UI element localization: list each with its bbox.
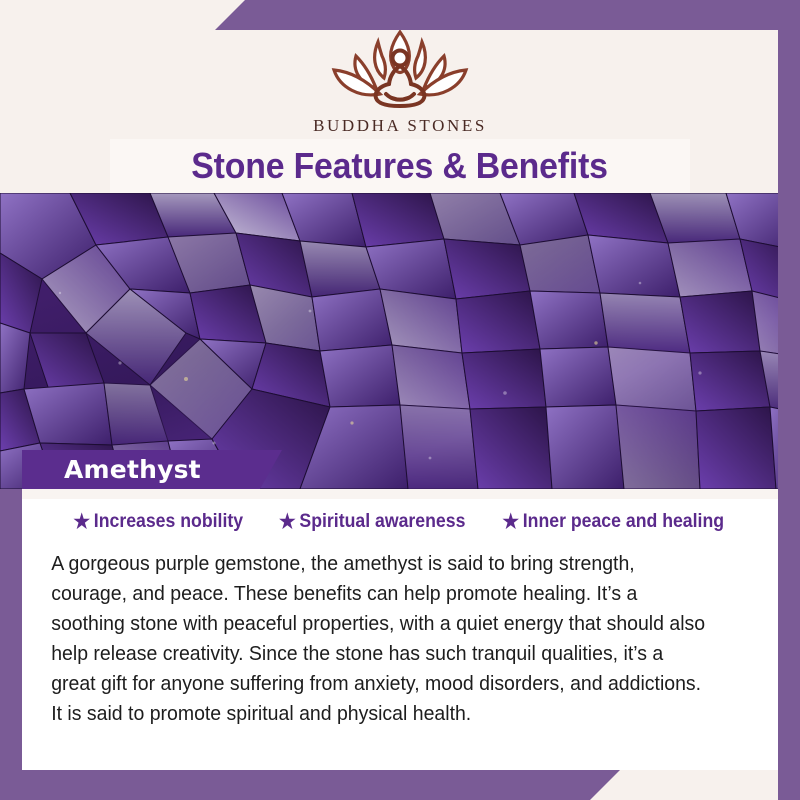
frame-left-bar <box>0 489 22 800</box>
frame-top-bar <box>215 0 800 30</box>
benefit-label-2: Spiritual awareness <box>299 511 465 533</box>
panel-top-divider <box>22 489 778 499</box>
star-icon: ★ <box>74 512 91 532</box>
content-panel: ★ Increases nobility ★ Spiritual awarene… <box>22 489 778 770</box>
star-icon: ★ <box>503 512 520 532</box>
lotus-meditation-figure-icon <box>316 22 484 114</box>
page-title: Stone Features & Benefits <box>192 145 609 187</box>
benefit-label-3: Inner peace and healing <box>523 511 724 533</box>
stone-name-badge: Amethyst <box>22 450 282 489</box>
brand-name: BUDDHA STONES <box>313 116 487 136</box>
amethyst-hero-image <box>0 193 800 489</box>
frame-bottom-bar <box>0 770 620 800</box>
star-icon: ★ <box>279 512 296 532</box>
brand-logo: BUDDHA STONES <box>0 22 800 136</box>
stone-name-text: Amethyst <box>64 455 201 484</box>
title-banner: Stone Features & Benefits <box>110 139 690 193</box>
benefits-list: ★ Increases nobility ★ Spiritual awarene… <box>36 511 764 533</box>
stone-description: A gorgeous purple gemstone, the amethyst… <box>36 549 728 729</box>
benefit-label-1: Increases nobility <box>94 511 243 533</box>
benefit-item-1: ★ Increases nobility <box>74 511 244 533</box>
benefit-item-3: ★ Inner peace and healing <box>503 511 725 533</box>
benefit-item-2: ★ Spiritual awareness <box>279 511 465 533</box>
frame-right-bar <box>778 0 800 800</box>
